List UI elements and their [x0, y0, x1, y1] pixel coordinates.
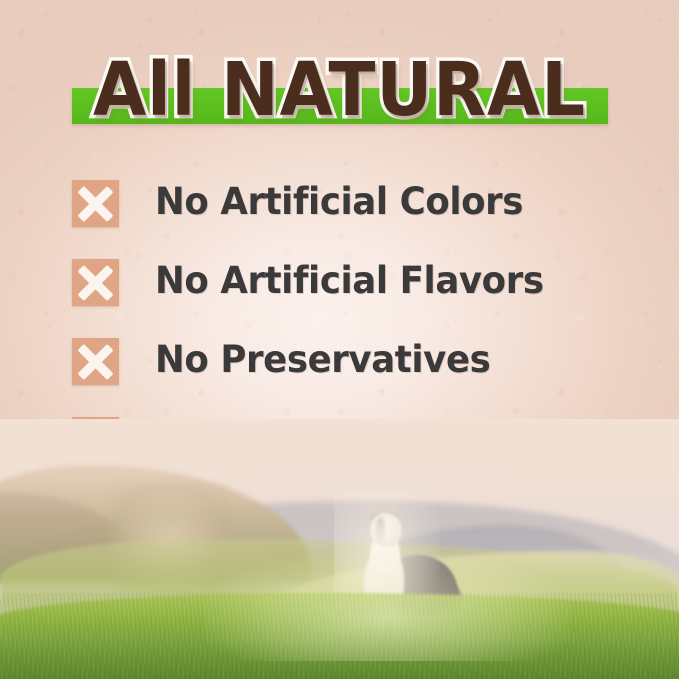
claim-label: No Artificial Colors — [155, 176, 523, 228]
list-item: No Artificial Flavors — [72, 257, 632, 336]
grass-texture — [0, 593, 679, 679]
all-natural-poster: All NATURAL No Artificial Colors No Arti… — [0, 0, 679, 679]
claim-label: No Artificial Flavors — [155, 255, 544, 307]
x-mark-icon — [72, 259, 119, 306]
headline-banner: All NATURAL — [0, 44, 679, 140]
x-mark-icon — [72, 180, 119, 227]
dog-face-marking — [376, 517, 385, 543]
landscape-photo — [0, 419, 679, 679]
list-item: No Preservatives — [72, 336, 632, 415]
list-item: No Artificial Colors — [72, 178, 632, 257]
page-title: All NATURAL — [24, 44, 655, 136]
claim-label: No Preservatives — [155, 334, 490, 386]
dog-head — [370, 513, 402, 547]
x-mark-icon — [72, 338, 119, 385]
